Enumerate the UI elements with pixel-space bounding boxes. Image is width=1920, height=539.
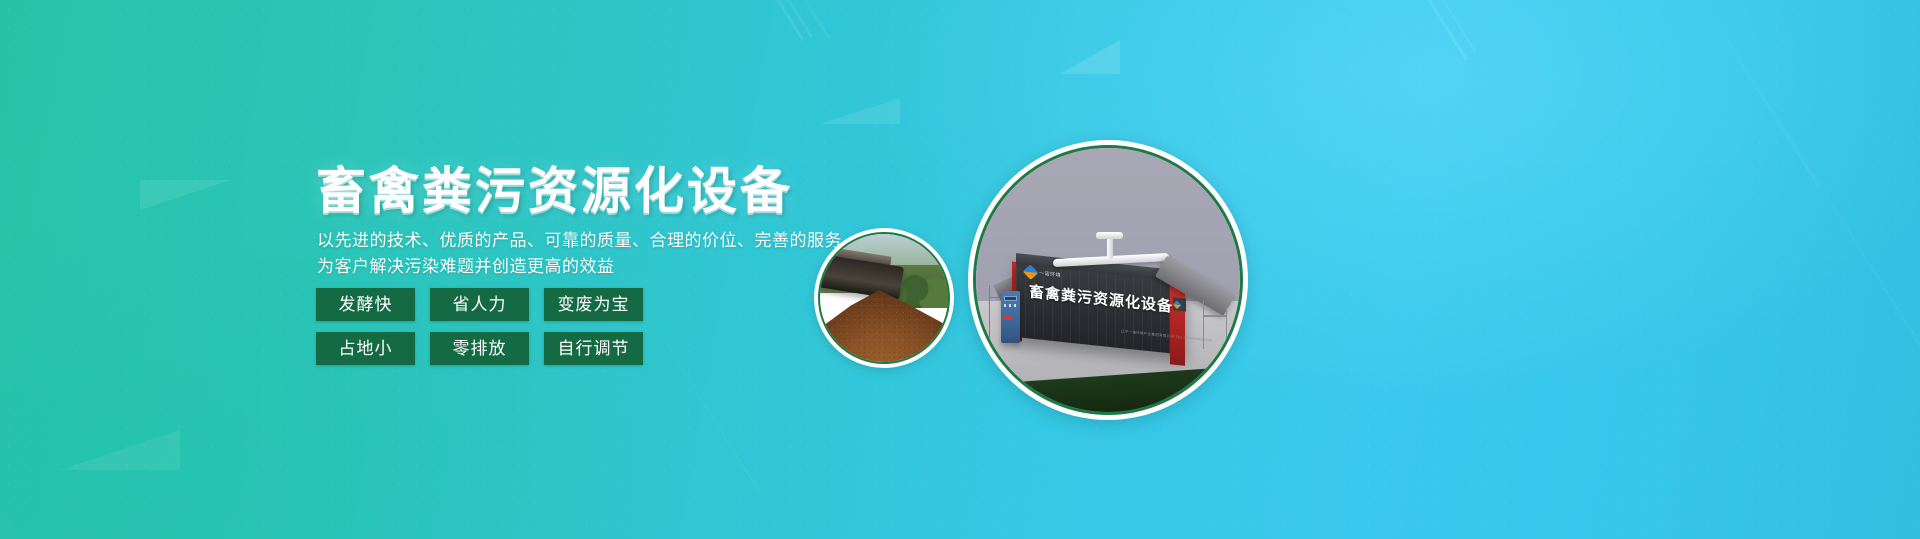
compost-photo-circle[interactable]: [814, 228, 954, 368]
deco-streak-6: [1660, 0, 1821, 189]
equipment-3d-render: 一诺环境 畜禽粪污资源化设备 辽宁一诺环境产业集团有限公司 TEL:0000-0…: [976, 148, 1240, 412]
badge-small-footprint[interactable]: 占地小: [316, 332, 415, 365]
compost-photo-ring: [818, 232, 950, 364]
subtitle-line-1: 以先进的技术、优质的产品、可靠的质量、合理的价位、完善的服务: [317, 228, 842, 254]
equipment-photo-circle[interactable]: 一诺环境 畜禽粪污资源化设备 辽宁一诺环境产业集团有限公司 TEL:0000-0…: [968, 140, 1248, 420]
badge-fast-fermentation[interactable]: 发酵快: [316, 288, 415, 321]
badge-self-adjusting[interactable]: 自行调节: [544, 332, 643, 365]
machine-right-logo-plate: [1173, 298, 1186, 313]
brand-diamond-icon-right: [1172, 301, 1180, 309]
control-cabinet: [1001, 291, 1019, 344]
machine-brand-logo: 一诺环境: [1025, 266, 1061, 281]
right-handrail: [1203, 301, 1227, 349]
cabinet-emergency-button: [1004, 315, 1012, 320]
deco-streak-5: [1374, 0, 1476, 52]
badge-zero-emission[interactable]: 零排放: [430, 332, 529, 365]
deco-triangle-3: [140, 180, 230, 210]
badge-waste-to-treasure[interactable]: 变废为宝: [544, 288, 643, 321]
deco-triangle-1: [1060, 40, 1120, 74]
compost-pile-photo: [820, 234, 948, 362]
brand-logo-text: 一诺环境: [1039, 270, 1061, 279]
machine-right-end-cap: [1170, 282, 1185, 365]
equipment-photo-ring: 一诺环境 畜禽粪污资源化设备 辽宁一诺环境产业集团有限公司 TEL:0000-0…: [973, 145, 1243, 415]
subtitle-line-2: 为客户解决污染难题并创造更高的效益: [317, 254, 615, 280]
cabinet-indicator-lights: [1004, 304, 1016, 307]
cabinet-display-screen: [1004, 296, 1017, 301]
feature-badge-group: 发酵快 省人力 变废为宝 占地小 零排放 自行调节: [316, 288, 736, 376]
page-title: 畜禽粪污资源化设备: [316, 166, 793, 216]
deco-streak-7: [1739, 56, 1920, 345]
deco-triangle-4: [60, 430, 180, 470]
feature-badge-row-1: 发酵快 省人力 变废为宝: [316, 288, 736, 321]
feature-badge-row-2: 占地小 零排放 自行调节: [316, 332, 736, 365]
promo-banner: 畜禽粪污资源化设备 以先进的技术、优质的产品、可靠的质量、合理的价位、完善的服务…: [0, 0, 1920, 539]
badge-save-labor[interactable]: 省人力: [430, 288, 529, 321]
machine-pipe-tee: [1096, 232, 1122, 238]
